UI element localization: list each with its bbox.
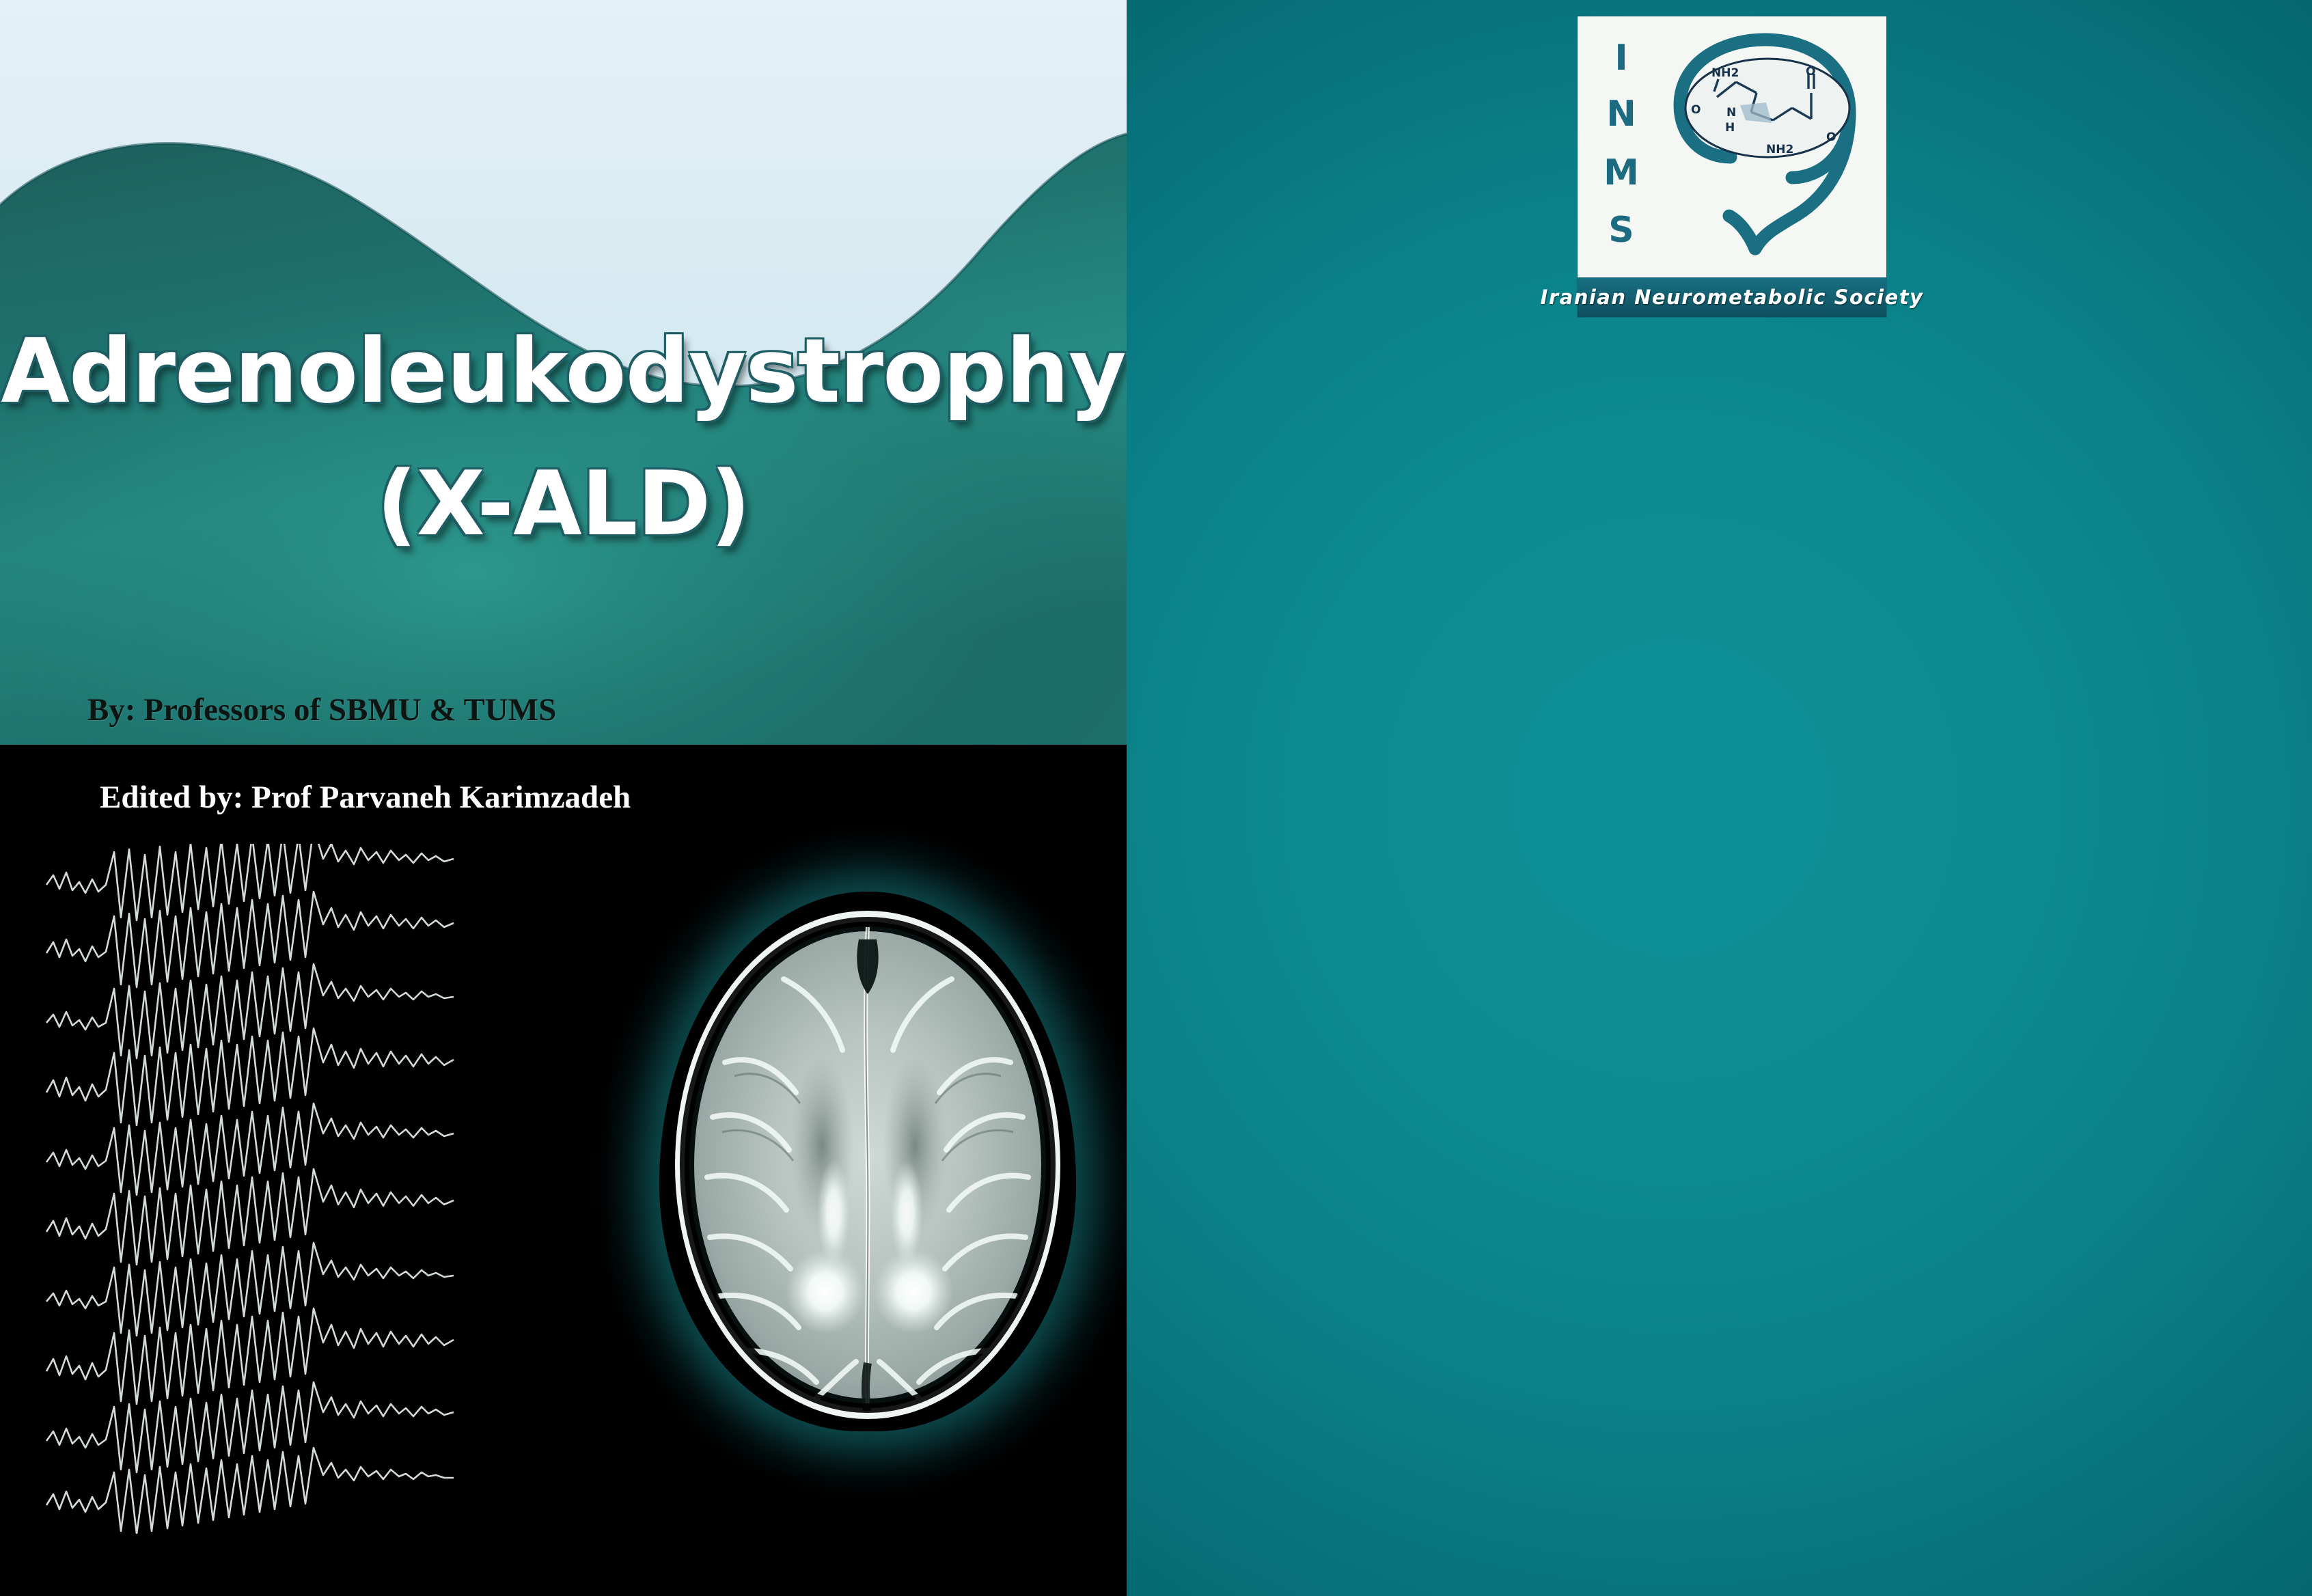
svg-text:O: O xyxy=(1826,130,1836,144)
cover-photo-area: Edited by: Prof Parvaneh Karimzadeh xyxy=(0,745,1127,1596)
svg-text:M: M xyxy=(1604,152,1639,193)
cover-title-subtitle: (X-ALD) xyxy=(0,459,1127,548)
svg-text:N: N xyxy=(1726,106,1736,120)
inms-logo-caption-band: Iranian Neurometabolic Society xyxy=(1578,277,1886,317)
inms-brain-molecule-icon: I N M S xyxy=(1578,16,1886,277)
cover-title-main: Adrenoleukodystrophy xyxy=(0,327,1127,415)
svg-text:O: O xyxy=(1806,65,1815,79)
back-cover-panel: I N M S xyxy=(1127,0,2312,1596)
cover-editor-byline: Edited by: Prof Parvaneh Karimzadeh xyxy=(100,779,631,816)
inms-society-logo: I N M S xyxy=(1578,16,1886,317)
inms-logo-caption-text: Iranian Neurometabolic Society xyxy=(1541,286,1924,309)
svg-text:NH2: NH2 xyxy=(1766,143,1793,156)
book-cover-page: Adrenoleukodystrophy (X-ALD) By: Profess… xyxy=(0,0,2312,1596)
svg-text:H: H xyxy=(1725,121,1735,135)
front-cover-panel: Adrenoleukodystrophy (X-ALD) By: Profess… xyxy=(0,0,1127,1596)
cover-authors-byline: By: Professors of SBMU & TUMS xyxy=(87,691,556,728)
svg-text:N: N xyxy=(1606,94,1636,135)
svg-text:O: O xyxy=(1691,103,1701,117)
svg-text:NH2: NH2 xyxy=(1711,66,1739,80)
svg-text:I: I xyxy=(1614,38,1627,79)
svg-text:S: S xyxy=(1608,210,1634,251)
